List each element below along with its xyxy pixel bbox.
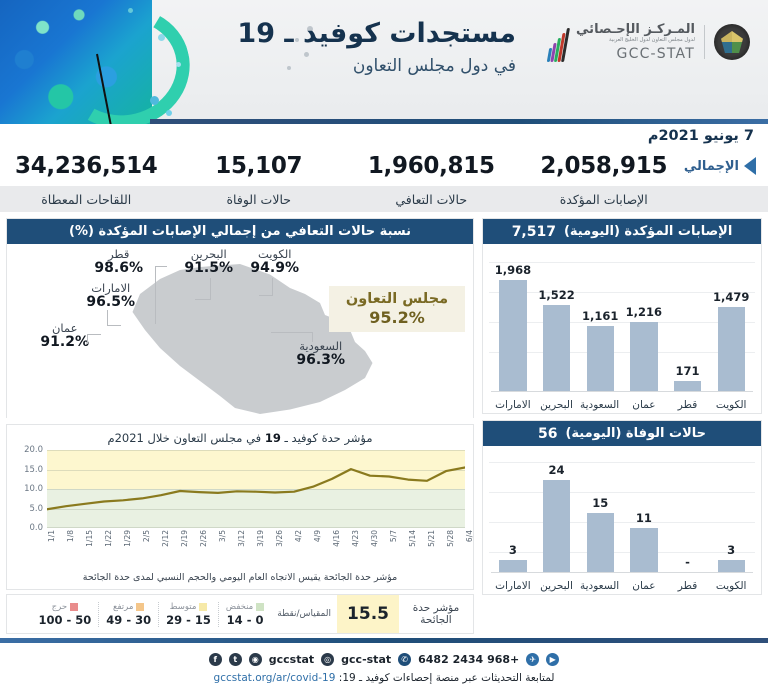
x-tick-label: 5/14 — [408, 530, 417, 547]
stat-deaths: 15,107 — [173, 153, 346, 179]
x-tick-label: 3/26 — [275, 530, 284, 547]
bar-rect — [587, 326, 614, 392]
leader-line — [195, 278, 211, 300]
category-label: عمان — [625, 580, 663, 592]
severity-index-value: 15.5 — [337, 595, 399, 633]
bar-value: 171 — [676, 364, 700, 378]
x-tick-label: 1/15 — [85, 530, 94, 547]
daily-confirmed-plot: 1,479 171 1,216 1,161 1,522 — [483, 244, 761, 413]
header-divider — [150, 119, 768, 124]
gcc-total-callout: مجلس التعاون 95.2% — [329, 286, 465, 332]
bar-value: - — [685, 555, 690, 569]
gcc-label: مجلس التعاون — [346, 291, 448, 307]
bar-qatar: 171 — [669, 260, 707, 391]
total-tag: الإجمالي — [690, 157, 768, 175]
title-subtitle: في دول مجلس التعاون — [237, 56, 516, 76]
hero-dot-icon — [158, 34, 165, 41]
x-tick-label: 1/22 — [104, 530, 113, 547]
daily-confirmed-title-text: الإصابات المؤكدة (اليومية) — [564, 224, 732, 239]
country-value: 91.5% — [184, 261, 233, 276]
facebook-icon[interactable]: f — [209, 653, 222, 666]
severity-plot-wrap: 0.0 5.0 10.0 15.0 20.0 1/11/81/151/221/2… — [15, 450, 465, 542]
category-label: البحرين — [538, 580, 576, 592]
level-range: 30 - 49 — [106, 613, 151, 627]
instagram-icon[interactable]: ◉ — [249, 653, 262, 666]
bar-value: 1,968 — [495, 263, 531, 277]
bar-value: 1,479 — [713, 290, 749, 304]
severity-legend-bar: مؤشر حدة الجائحة 15.5 المقياس/نقطة منخفض… — [6, 594, 474, 634]
y-tick: 0.0 — [29, 523, 43, 533]
swatch-icon — [70, 603, 78, 611]
snapchat-icon[interactable]: ◎ — [321, 653, 334, 666]
gcc-stat-logo: المـركـز الإحـصائي لدول مجلس التعاون لدو… — [545, 22, 750, 62]
whatsapp-icon[interactable]: ✆ — [398, 653, 411, 666]
map-panel-title: نسبة حالات التعافي من إجمالي الإصابات ال… — [7, 219, 473, 244]
severity-scale-label: المقياس/نقطة — [271, 609, 337, 619]
stat-value: 2,058,915 — [518, 153, 691, 179]
leader-line — [87, 334, 101, 344]
x-tick-label: 1/29 — [123, 530, 132, 547]
level-name: مرتفع — [113, 602, 133, 612]
x-tick-label: 5/21 — [427, 530, 436, 547]
category-label: قطر — [669, 580, 707, 592]
x-tick-label: 3/5 — [218, 530, 227, 542]
daily-confirmed-title: الإصابات المؤكدة (اليومية) 7,517 — [483, 219, 761, 244]
severity-x-labels: 1/11/81/151/221/292/52/122/192/263/53/12… — [47, 530, 465, 558]
country-name: البحرين — [184, 248, 233, 261]
country-value: 96.3% — [296, 353, 345, 368]
footer-phone: +968 2434 6482 — [418, 653, 519, 666]
level-name: متوسط — [170, 602, 197, 612]
bar-bahrain: 1,522 — [538, 260, 576, 391]
bar-rect — [543, 480, 570, 572]
country-name: الكويت — [250, 248, 299, 261]
daily-deaths-title-text: حالات الوفاة (اليومية) — [565, 426, 706, 441]
category-label: السعودية — [581, 580, 619, 592]
logo-arabic-name: المـركـز الإحـصائي — [576, 23, 695, 36]
map-label-kuwait: الكويت 94.9% — [250, 248, 299, 276]
footer-social-row: ▶ ✈ +968 2434 6482 ✆ gcc-stat ◎ gccstat … — [0, 645, 768, 666]
bar-rect — [499, 280, 526, 391]
severity-level-critical: حرج 50 - 100 — [31, 602, 98, 627]
stat-recovered: 1,960,815 — [345, 153, 518, 179]
infographic-page: مستجدات كوفيد ـ 19 في دول مجلس التعاون ا… — [0, 0, 768, 698]
y-tick: 20.0 — [24, 445, 43, 455]
bar-value: 3 — [727, 543, 735, 557]
bar-uae: 1,968 — [494, 260, 532, 391]
x-tick-label: 5/28 — [446, 530, 455, 547]
swatch-icon — [136, 603, 144, 611]
severity-title-bold: 19 — [265, 431, 281, 445]
hero-dot-icon — [166, 110, 172, 116]
level-name: حرج — [52, 602, 67, 612]
bar-uae: 3 — [494, 462, 532, 572]
bar-rect — [674, 381, 701, 391]
stat-label-vaccines: اللقاحات المعطاة — [0, 192, 173, 207]
stat-value: 1,960,815 — [345, 153, 518, 179]
logo-ribbon-icon — [545, 22, 567, 62]
severity-title-suffix: في مجلس التعاون خلال 2021م — [107, 431, 264, 445]
severity-title-prefix: مؤشر حدة كوفيد ـ — [281, 431, 373, 445]
bar-bahrain: 24 — [538, 462, 576, 572]
daily-deaths-total: 56 — [538, 426, 557, 442]
bar-value: 1,522 — [538, 288, 574, 302]
leader-line — [271, 332, 313, 342]
bar-kuwait: 3 — [712, 462, 750, 572]
hero-dot-icon — [176, 62, 181, 67]
page-header: مستجدات كوفيد ـ 19 في دول مجلس التعاون ا… — [0, 0, 768, 124]
telegram-icon[interactable]: ✈ — [526, 653, 539, 666]
bar-rect — [543, 305, 570, 391]
x-tick-label: 5/7 — [389, 530, 398, 542]
x-tick-label: 4/16 — [332, 530, 341, 547]
logo-divider — [704, 25, 705, 59]
y-tick: 10.0 — [24, 484, 43, 494]
bar-rect — [630, 322, 657, 391]
total-label: الإجمالي — [684, 159, 739, 174]
category-label: الكويت — [712, 399, 750, 411]
bar-value: 3 — [509, 543, 517, 557]
severity-chart-title: مؤشر حدة كوفيد ـ 19 في مجلس التعاون خلال… — [7, 425, 473, 445]
map-label-uae: الامارات 96.5% — [86, 282, 135, 310]
bar-saudi: 1,161 — [581, 260, 619, 391]
daily-confirmed-chart-panel: الإصابات المؤكدة (اليومية) 7,517 1,479 1… — [482, 218, 762, 414]
daily-confirmed-total: 7,517 — [512, 224, 556, 240]
recovery-map-panel: نسبة حالات التعافي من إجمالي الإصابات ال… — [6, 218, 474, 418]
bar-rect — [587, 513, 614, 572]
severity-line-plot — [47, 450, 465, 528]
level-range: 50 - 100 — [38, 613, 91, 627]
stat-value: 15,107 — [173, 153, 346, 179]
confirmed-category-labels: الكويت قطر عمان السعودية البحرين الامارا… — [491, 399, 753, 411]
swatch-icon — [256, 603, 264, 611]
hero-dot-icon — [150, 96, 159, 105]
severity-footnote: مؤشر حدة الجائحة يقيس الاتجاه العام اليو… — [7, 572, 473, 583]
category-label: الكويت — [712, 580, 750, 592]
daily-deaths-title: حالات الوفاة (اليومية) 56 — [483, 421, 761, 446]
x-tick-label: 4/23 — [351, 530, 360, 547]
map-label-qatar: قطر 98.6% — [94, 248, 143, 276]
summary-values-row: الإجمالي 2,058,915 1,960,815 15,107 34,2… — [0, 148, 768, 184]
map-label-oman: عمان 91.2% — [40, 322, 89, 350]
logo-arabic-subtitle: لدول مجلس التعاون لدول الخليج العربية — [576, 38, 695, 43]
y-tick: 5.0 — [29, 504, 43, 514]
footer-divider — [0, 638, 768, 643]
x-tick-label: 2/26 — [199, 530, 208, 547]
category-label: السعودية — [581, 399, 619, 411]
leader-line — [107, 310, 121, 326]
category-label: عمان — [625, 399, 663, 411]
x-tick-label: 6/4 — [465, 530, 474, 542]
x-tick-label: 2/5 — [142, 530, 151, 542]
footer-note: لمتابعة التحديثات عبر منصة إحصاءات كوفيد… — [339, 672, 555, 684]
severity-levels: منخفض 0 - 14 متوسط 15 - 29 مرتفع 30 - 49 — [7, 602, 271, 627]
severity-level-high: مرتفع 30 - 49 — [98, 602, 158, 627]
x-tick-label: 3/19 — [256, 530, 265, 547]
category-label: قطر — [669, 399, 707, 411]
bar-value: 1,216 — [626, 305, 662, 319]
summary-stats: الإجمالي 2,058,915 1,960,815 15,107 34,2… — [0, 148, 768, 210]
x-tick-label: 2/19 — [180, 530, 189, 547]
youtube-icon[interactable]: ▶ — [546, 653, 559, 666]
stat-confirmed: 2,058,915 — [518, 153, 691, 179]
y-tick: 15.0 — [24, 465, 43, 475]
bar-value: 11 — [636, 511, 652, 525]
category-label: البحرين — [538, 399, 576, 411]
bar-qatar: - — [669, 462, 707, 572]
title-main: مستجدات كوفيد ـ 19 — [237, 18, 516, 49]
country-value: 98.6% — [94, 261, 143, 276]
stat-value: 34,236,514 — [0, 153, 173, 179]
level-range: 15 - 29 — [166, 613, 211, 627]
swatch-icon — [199, 603, 207, 611]
page-footer: ▶ ✈ +968 2434 6482 ✆ gcc-stat ◎ gccstat … — [0, 645, 768, 698]
stat-label-confirmed: الإصابات المؤكدة — [518, 192, 691, 207]
bar-oman: 1,216 — [625, 260, 663, 391]
bar-value: 15 — [592, 496, 608, 510]
leader-line — [155, 266, 167, 324]
logo-text: المـركـز الإحـصائي لدول مجلس التعاون لدو… — [576, 23, 695, 60]
x-tick-label: 1/1 — [47, 530, 56, 542]
triangle-left-icon — [744, 157, 756, 175]
stat-vaccines: 34,236,514 — [0, 153, 173, 179]
x-tick-label: 1/8 — [66, 530, 75, 542]
daily-deaths-chart-panel: حالات الوفاة (اليومية) 56 3 - 11 — [482, 420, 762, 595]
x-tick-label: 4/9 — [313, 530, 322, 542]
bar-oman: 11 — [625, 462, 663, 572]
report-date: 7 يونيو 2021م — [648, 128, 754, 144]
deaths-category-labels: الكويت قطر عمان السعودية البحرين الامارا… — [491, 580, 753, 592]
footer-handle-2: gcc-stat — [341, 653, 391, 666]
x-tick-label: 3/12 — [237, 530, 246, 547]
stat-label-recovered: حالات التعافي — [345, 192, 518, 207]
x-tick-label: 2/12 — [161, 530, 170, 547]
severity-index-label: مؤشر حدة الجائحة — [399, 602, 473, 626]
level-range: 0 - 14 — [226, 613, 264, 627]
footer-handle-1: gccstat — [269, 653, 314, 666]
country-value: 96.5% — [86, 295, 135, 310]
twitter-icon[interactable]: t — [229, 653, 242, 666]
severity-level-medium: متوسط 15 - 29 — [158, 602, 218, 627]
logo-english-name: GCC-STAT — [576, 47, 695, 61]
country-name: قطر — [94, 248, 143, 261]
gcc-emblem-icon — [714, 24, 750, 60]
bar-rect — [630, 528, 657, 572]
map-label-bahrain: البحرين 91.5% — [184, 248, 233, 276]
severity-level-low: منخفض 0 - 14 — [218, 602, 271, 627]
bar-value: 24 — [549, 463, 565, 477]
daily-deaths-plot: 3 - 11 15 24 — [483, 446, 761, 594]
summary-labels-row: الإصابات المؤكدة حالات التعافي حالات الو… — [0, 186, 768, 212]
gcc-value: 95.2% — [369, 308, 425, 327]
country-name: عمان — [40, 322, 89, 335]
country-name: الامارات — [86, 282, 135, 295]
footer-link[interactable]: gccstat.org/ar/covid-19 — [214, 672, 336, 684]
footer-link-row: لمتابعة التحديثات عبر منصة إحصاءات كوفيد… — [0, 672, 768, 684]
severity-index-chart-panel: مؤشر حدة كوفيد ـ 19 في مجلس التعاون خلال… — [6, 424, 474, 590]
confirmed-bars: 1,479 171 1,216 1,161 1,522 — [491, 260, 753, 391]
bar-value: 1,161 — [582, 309, 618, 323]
severity-y-axis: 0.0 5.0 10.0 15.0 20.0 — [15, 450, 45, 528]
stat-label-deaths: حالات الوفاة — [173, 192, 346, 207]
bar-rect — [718, 307, 745, 391]
page-title: مستجدات كوفيد ـ 19 في دول مجلس التعاون — [237, 18, 516, 76]
bar-rect — [718, 560, 745, 572]
category-label: الامارات — [494, 580, 532, 592]
level-name: منخفض — [226, 602, 253, 612]
deaths-bars: 3 - 11 15 24 — [491, 462, 753, 572]
category-label: الامارات — [494, 399, 532, 411]
country-value: 91.2% — [40, 335, 89, 350]
x-tick-label: 4/30 — [370, 530, 379, 547]
leader-line — [259, 278, 273, 296]
map-label-saudi: السعودية 96.3% — [296, 340, 345, 368]
x-tick-label: 4/2 — [294, 530, 303, 542]
map-body: مجلس التعاون 95.2% الكويت 94.9% البحرين … — [7, 244, 473, 418]
country-value: 94.9% — [250, 261, 299, 276]
bar-saudi: 15 — [581, 462, 619, 572]
bar-kuwait: 1,479 — [712, 260, 750, 391]
bar-rect — [499, 560, 526, 572]
severity-line-svg — [47, 450, 465, 528]
hero-dot-icon — [128, 8, 133, 13]
